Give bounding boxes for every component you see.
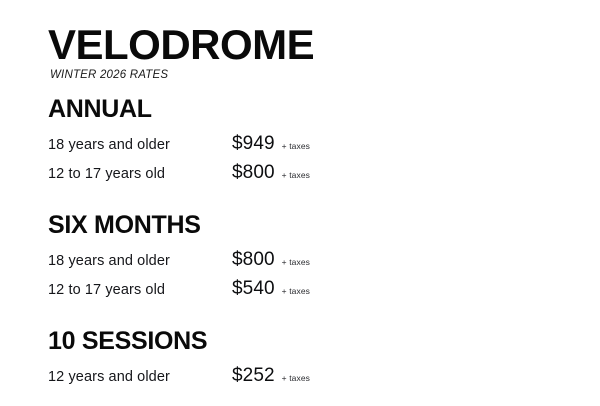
rate-row: 18 years and older $949 + taxes bbox=[48, 133, 600, 162]
rate-price-cell: $540 + taxes bbox=[232, 278, 310, 300]
rate-price-cell: $252 + taxes bbox=[232, 365, 310, 387]
rate-row-group: 18 years and older $949 + taxes 12 to 17… bbox=[48, 133, 600, 191]
rate-section-six-months: SIX MONTHS 18 years and older $800 + tax… bbox=[48, 211, 600, 307]
rate-price: $949 bbox=[232, 133, 275, 155]
rate-row: 12 to 17 years old $800 + taxes bbox=[48, 162, 600, 191]
rate-row-group: 18 years and older $800 + taxes 12 to 17… bbox=[48, 249, 600, 307]
rate-tax-note: + taxes bbox=[282, 373, 310, 383]
rate-tax-note: + taxes bbox=[282, 257, 310, 267]
rate-label: 18 years and older bbox=[48, 137, 232, 153]
rate-row: 12 years and older $252 + taxes bbox=[48, 365, 600, 394]
rate-price: $540 bbox=[232, 278, 275, 300]
rate-label: 12 to 17 years old bbox=[48, 166, 232, 182]
page-subtitle: WINTER 2026 RATES bbox=[50, 69, 600, 81]
rate-sections: ANNUAL 18 years and older $949 + taxes 1… bbox=[48, 95, 600, 394]
rate-tax-note: + taxes bbox=[282, 141, 310, 151]
section-heading: 10 SESSIONS bbox=[48, 327, 600, 355]
rate-price: $800 bbox=[232, 162, 275, 184]
rate-tax-note: + taxes bbox=[282, 170, 310, 180]
masthead: VELODROME WINTER 2026 RATES bbox=[48, 24, 600, 81]
rate-price: $252 bbox=[232, 365, 275, 387]
rate-price: $800 bbox=[232, 249, 275, 271]
page-title: VELODROME bbox=[48, 24, 600, 67]
rate-label: 18 years and older bbox=[48, 253, 232, 269]
rate-price-cell: $800 + taxes bbox=[232, 249, 310, 271]
rate-section-annual: ANNUAL 18 years and older $949 + taxes 1… bbox=[48, 95, 600, 191]
section-heading: ANNUAL bbox=[48, 95, 600, 123]
rate-price-cell: $949 + taxes bbox=[232, 133, 310, 155]
rate-tax-note: + taxes bbox=[282, 286, 310, 296]
rate-row-group: 12 years and older $252 + taxes bbox=[48, 365, 600, 394]
rate-row: 18 years and older $800 + taxes bbox=[48, 249, 600, 278]
rate-section-10-sessions: 10 SESSIONS 12 years and older $252 + ta… bbox=[48, 327, 600, 394]
rate-price-cell: $800 + taxes bbox=[232, 162, 310, 184]
rate-row: 12 to 17 years old $540 + taxes bbox=[48, 278, 600, 307]
section-heading: SIX MONTHS bbox=[48, 211, 600, 239]
rate-label: 12 to 17 years old bbox=[48, 282, 232, 298]
rate-label: 12 years and older bbox=[48, 369, 232, 385]
rates-poster: VELODROME WINTER 2026 RATES ANNUAL 18 ye… bbox=[0, 0, 600, 406]
